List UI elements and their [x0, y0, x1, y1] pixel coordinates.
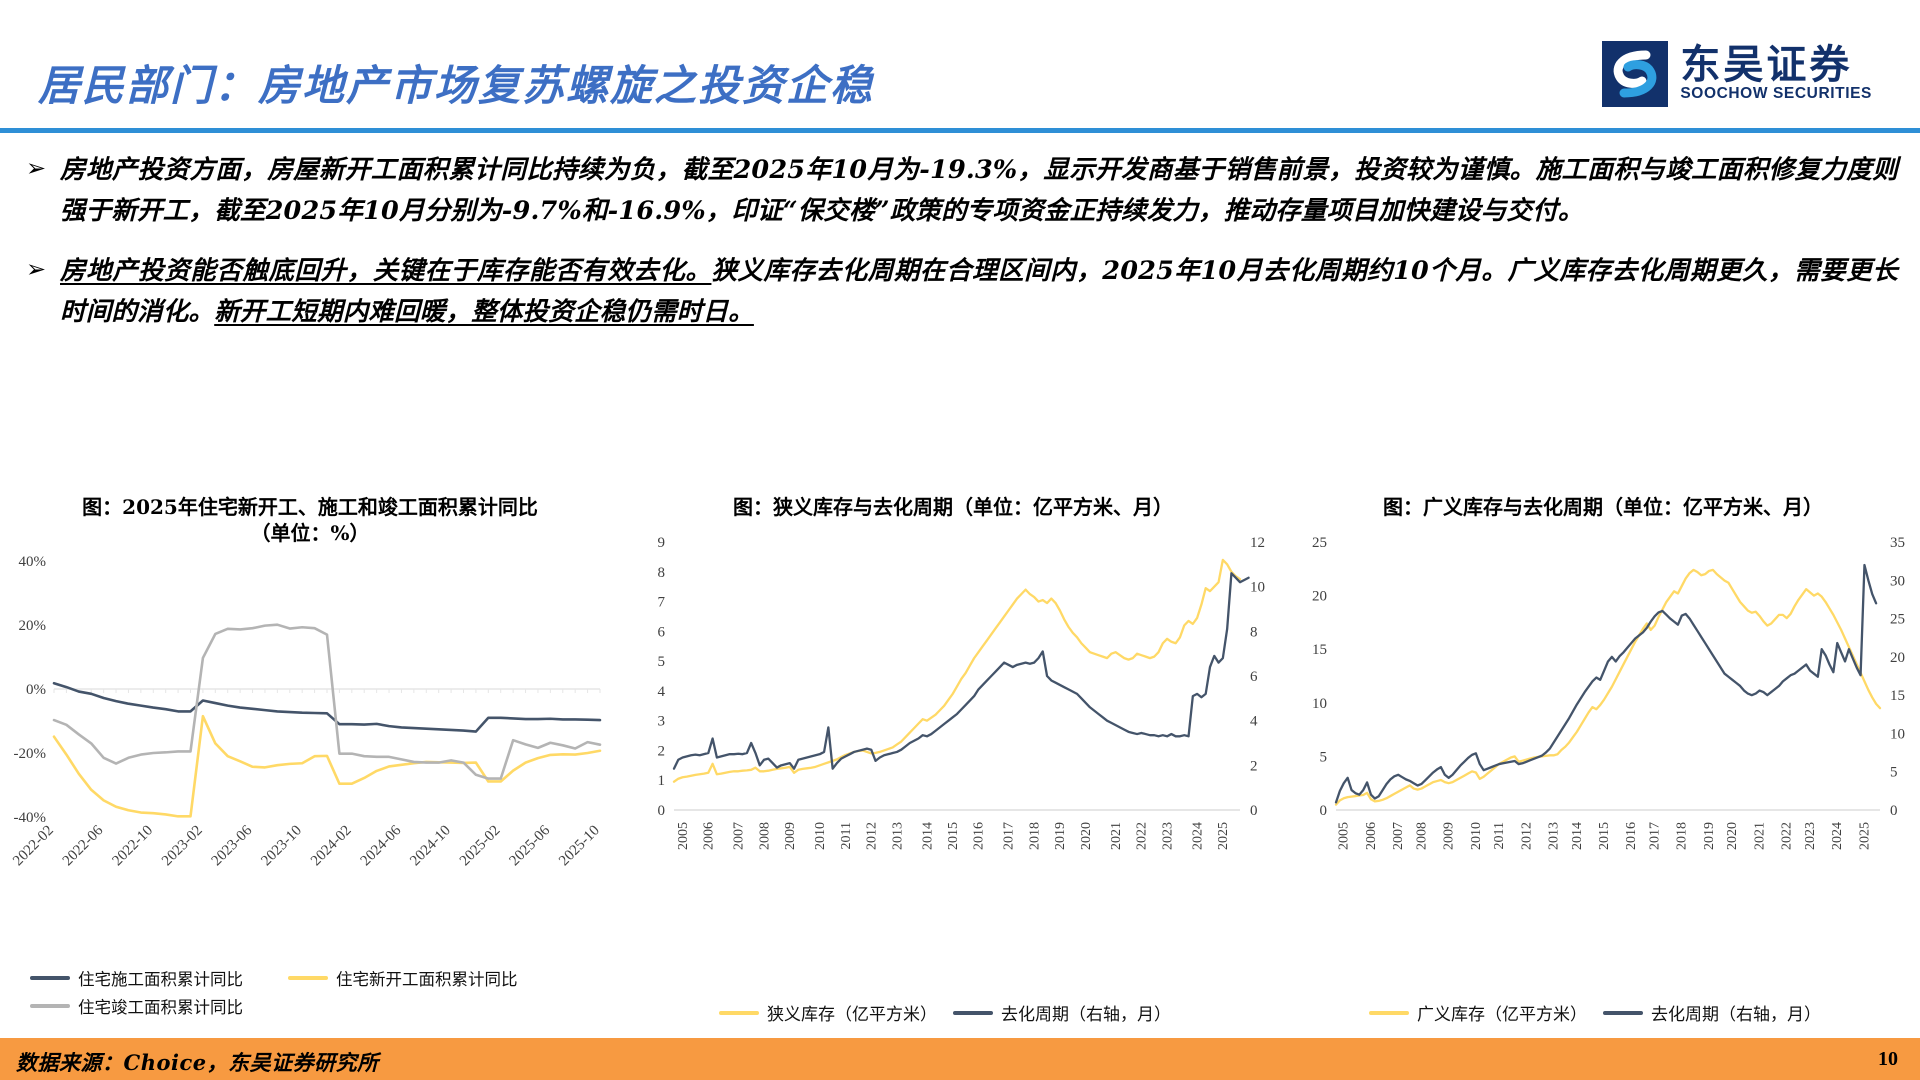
- x-axis-tick-label: 2022: [1135, 822, 1150, 850]
- x-axis-tick-label: 2007: [732, 822, 747, 850]
- y-axis-right-tick-label: 25: [1890, 612, 1905, 628]
- x-axis-tick-label: 2020: [1079, 822, 1094, 850]
- x-axis-tick-label: 2009: [1442, 822, 1457, 850]
- page-number: 10: [1878, 1048, 1898, 1071]
- y-axis-right-tick-label: 30: [1890, 574, 1905, 590]
- x-axis-tick-label: 2024-02: [308, 822, 355, 869]
- x-axis-tick-label: 2017: [1002, 822, 1017, 850]
- x-axis-tick-label: 2007: [1391, 822, 1406, 850]
- y-axis-right-tick-label: 8: [1250, 625, 1258, 641]
- legend-swatch-icon: [1603, 1011, 1643, 1015]
- soochow-securities-logo: 东吴证券 SOOCHOW SECURITIES: [1602, 36, 1872, 112]
- y-axis-right-tick-label: 35: [1890, 535, 1905, 551]
- legend-swatch-icon: [30, 1004, 70, 1008]
- legend-item[interactable]: 广义库存（亿平方米）: [1369, 1000, 1587, 1025]
- legend-swatch-icon: [30, 976, 70, 980]
- x-axis-tick-label: 2016: [972, 822, 987, 850]
- x-axis-tick-label: 2018: [1028, 822, 1043, 850]
- y-axis-left-tick-label: 15: [1312, 643, 1327, 659]
- legend-swatch-icon: [288, 976, 328, 980]
- y-axis-left-tick-label: 0: [1320, 803, 1328, 819]
- y-axis-right-tick-label: 20: [1890, 650, 1905, 666]
- y-axis-tick-label: 20%: [19, 618, 47, 634]
- y-axis-tick-label: 40%: [19, 554, 47, 570]
- x-axis-tick-label: 2024-06: [358, 822, 405, 869]
- legend-swatch-icon: [953, 1011, 993, 1015]
- y-axis-tick-label: -20%: [14, 746, 47, 762]
- chart-broad-inventory: 图：广义库存与去化周期（单位：亿平方米、月） 05101520250510152…: [1288, 488, 1918, 1048]
- x-axis-tick-label: 2022-10: [109, 822, 156, 869]
- logo-name-cn: 东吴证券: [1680, 44, 1872, 85]
- slide-header: 居民部门：房地产市场复苏螺旋之投资企稳 东吴证券 SOOCHOW SECURIT…: [0, 0, 1920, 150]
- logo-name-en: SOOCHOW SECURITIES: [1680, 85, 1872, 104]
- chart-narrow-inventory: 图：狭义库存与去化周期（单位：亿平方米、月） 01234567890246810…: [628, 488, 1278, 1048]
- legend-label: 去化周期（右轴，月）: [1651, 1000, 1821, 1025]
- y-axis-right-tick-label: 6: [1250, 669, 1258, 685]
- bullet-segment-underlined: 房地产投资能否触底回升，关键在于库存能否有效去化。: [60, 256, 711, 286]
- chart-legend: 广义库存（亿平方米）去化周期（右轴，月）: [1288, 1000, 1918, 1029]
- y-axis-left-tick-label: 9: [658, 535, 666, 551]
- y-axis-left-tick-label: 8: [658, 565, 666, 581]
- chart-title-line1: 图：2025年住宅新开工、施工和竣工面积累计同比: [75, 494, 545, 520]
- y-axis-right-tick-label: 5: [1890, 765, 1898, 781]
- series-line-1: [54, 716, 600, 816]
- x-axis-tick-label: 2006: [702, 822, 717, 850]
- bullet-item: ➢ 房地产投资能否触底回升，关键在于库存能否有效去化。狭义库存去化周期在合理区间…: [22, 251, 1898, 334]
- x-axis-tick-label: 2014: [920, 822, 935, 850]
- y-axis-left-tick-label: 6: [658, 625, 666, 641]
- x-axis-tick-label: 2024: [1830, 822, 1845, 850]
- y-axis-right-tick-label: 0: [1890, 803, 1898, 819]
- legend-label: 去化周期（右轴，月）: [1001, 1000, 1171, 1025]
- legend-swatch-icon: [719, 1011, 759, 1015]
- legend-label: 住宅新开工面积累计同比: [336, 966, 518, 990]
- legend-item[interactable]: 狭义库存（亿平方米）: [719, 1000, 937, 1025]
- legend-item[interactable]: 去化周期（右轴，月）: [1603, 1000, 1821, 1025]
- x-axis-tick-label: 2020: [1725, 822, 1740, 850]
- chart-plot-area: -40%-20%0%20%40%2022-022022-062022-10202…: [0, 547, 620, 947]
- legend-item[interactable]: 住宅施工面积累计同比: [30, 966, 282, 990]
- series-line-1: [674, 574, 1249, 769]
- legend-label: 住宅竣工面积累计同比: [78, 994, 243, 1018]
- chart-title: 图：狭义库存与去化周期（单位：亿平方米、月）: [628, 488, 1278, 520]
- bullet-segment: 房地产投资方面，房屋新开工面积累计同比持续为负，截至2025年10月为-19.3…: [60, 155, 1898, 226]
- x-axis-tick-label: 2023: [1803, 822, 1818, 850]
- data-source-label: 数据来源：Choice，东吴证券研究所: [16, 1047, 379, 1077]
- chart-svg: -40%-20%0%20%40%2022-022022-062022-10202…: [0, 547, 620, 947]
- x-axis-tick-label: 2009: [783, 822, 798, 850]
- y-axis-left-tick-label: 4: [658, 684, 666, 700]
- chart-svg: 0510152025051015202530352005200620072008…: [1288, 520, 1918, 960]
- x-axis-tick-label: 2022-06: [60, 822, 107, 869]
- bullet-item: ➢ 房地产投资方面，房屋新开工面积累计同比持续为负，截至2025年10月为-19…: [22, 150, 1898, 233]
- x-axis-tick-label: 2025-06: [507, 822, 554, 869]
- y-axis-tick-label: -40%: [14, 810, 47, 826]
- legend-item[interactable]: 住宅竣工面积累计同比: [30, 994, 282, 1018]
- legend-item[interactable]: 住宅新开工面积累计同比: [288, 966, 540, 990]
- x-axis-tick-label: 2021: [1752, 822, 1767, 850]
- x-axis-tick-label: 2024: [1190, 822, 1205, 850]
- y-axis-left-tick-label: 0: [658, 803, 666, 819]
- x-axis-tick-label: 2016: [1624, 822, 1639, 850]
- x-axis-tick-label: 2014: [1570, 822, 1585, 850]
- x-axis-tick-label: 2023-06: [209, 822, 256, 869]
- x-axis-tick-label: 2025: [1216, 822, 1231, 850]
- x-axis-tick-label: 2008: [757, 822, 772, 850]
- legend-label: 广义库存（亿平方米）: [1417, 1000, 1587, 1025]
- chart-plot-area: 0510152025051015202530352005200620072008…: [1288, 520, 1918, 960]
- chart-legend: 狭义库存（亿平方米）去化周期（右轴，月）: [628, 1000, 1278, 1029]
- x-axis-tick-label: 2010: [1469, 822, 1484, 850]
- x-axis-tick-label: 2019: [1053, 822, 1068, 850]
- x-axis-tick-label: 2008: [1414, 822, 1429, 850]
- y-axis-right-tick-label: 0: [1250, 803, 1258, 819]
- bullet-arrow-icon: ➢: [22, 251, 60, 290]
- slide: 居民部门：房地产市场复苏螺旋之投资企稳 东吴证券 SOOCHOW SECURIT…: [0, 0, 1920, 1080]
- x-axis-tick-label: 2025: [1857, 822, 1872, 850]
- bullet-arrow-icon: ➢: [22, 150, 60, 189]
- x-axis-tick-label: 2013: [890, 822, 905, 850]
- x-axis-tick-label: 2025-10: [556, 822, 603, 869]
- chart-legend: 住宅施工面积累计同比住宅新开工面积累计同比住宅竣工面积累计同比: [30, 966, 590, 1022]
- y-axis-left-tick-label: 5: [1320, 750, 1328, 766]
- header-divider: [0, 128, 1920, 133]
- y-axis-tick-label: 0%: [26, 682, 46, 698]
- y-axis-right-tick-label: 10: [1890, 727, 1905, 743]
- chart-title: 图：2025年住宅新开工、施工和竣工面积累计同比 （单位：%）: [75, 488, 545, 547]
- series-line-0: [674, 560, 1240, 782]
- x-axis-tick-label: 2022: [1780, 822, 1795, 850]
- x-axis-tick-label: 2022-02: [10, 822, 57, 869]
- x-axis-tick-label: 2018: [1675, 822, 1690, 850]
- bullet-text: 房地产投资能否触底回升，关键在于库存能否有效去化。狭义库存去化周期在合理区间内，…: [60, 251, 1898, 334]
- x-axis-tick-label: 2011: [839, 822, 854, 849]
- x-axis-tick-label: 2005: [676, 822, 691, 850]
- x-axis-tick-label: 2023-10: [258, 822, 305, 869]
- y-axis-left-tick-label: 7: [658, 595, 666, 611]
- bullet-text: 房地产投资方面，房屋新开工面积累计同比持续为负，截至2025年10月为-19.3…: [60, 150, 1898, 233]
- x-axis-tick-label: 2012: [1519, 822, 1534, 850]
- chart-construction-yoy: 图：2025年住宅新开工、施工和竣工面积累计同比 （单位：%） -40%-20%…: [0, 488, 620, 1048]
- body-bullets: ➢ 房地产投资方面，房屋新开工面积累计同比持续为负，截至2025年10月为-19…: [22, 150, 1898, 351]
- y-axis-right-tick-label: 12: [1250, 535, 1265, 551]
- chart-title-line2: （单位：%）: [75, 520, 545, 546]
- series-line-1: [1336, 565, 1876, 802]
- charts-row: 图：2025年住宅新开工、施工和竣工面积累计同比 （单位：%） -40%-20%…: [0, 488, 1920, 1048]
- x-axis-tick-label: 2024-10: [407, 822, 454, 869]
- x-axis-tick-label: 2006: [1364, 822, 1379, 850]
- x-axis-tick-label: 2012: [865, 822, 880, 850]
- legend-label: 住宅施工面积累计同比: [78, 966, 243, 990]
- x-axis-tick-label: 2010: [813, 822, 828, 850]
- y-axis-left-tick-label: 3: [658, 714, 666, 730]
- y-axis-left-tick-label: 2: [658, 744, 666, 760]
- legend-item[interactable]: 去化周期（右轴，月）: [953, 1000, 1171, 1025]
- y-axis-left-tick-label: 5: [658, 655, 666, 671]
- y-axis-right-tick-label: 2: [1250, 759, 1258, 775]
- legend-label: 狭义库存（亿平方米）: [767, 1000, 937, 1025]
- x-axis-tick-label: 2021: [1109, 822, 1124, 850]
- slide-footer: 数据来源：Choice，东吴证券研究所 10: [0, 1038, 1920, 1080]
- x-axis-tick-label: 2015: [1597, 822, 1612, 850]
- x-axis-tick-label: 2011: [1492, 822, 1507, 849]
- y-axis-right-tick-label: 15: [1890, 689, 1905, 705]
- chart-title: 图：广义库存与去化周期（单位：亿平方米、月）: [1288, 488, 1918, 520]
- logo-swirl-icon: [1602, 41, 1668, 107]
- y-axis-left-tick-label: 20: [1312, 589, 1327, 605]
- chart-plot-area: 0123456789024681012200520062007200820092…: [628, 520, 1278, 960]
- chart-svg: 0123456789024681012200520062007200820092…: [628, 520, 1278, 960]
- bullet-segment-underlined: 新开工短期内难回暖，整体投资企稳仍需时日。: [214, 297, 754, 327]
- x-axis-tick-label: 2013: [1547, 822, 1562, 850]
- logo-text: 东吴证券 SOOCHOW SECURITIES: [1680, 44, 1872, 104]
- x-axis-tick-label: 2019: [1702, 822, 1717, 850]
- x-axis-tick-label: 2017: [1648, 822, 1663, 850]
- x-axis-tick-label: 2023: [1160, 822, 1175, 850]
- legend-swatch-icon: [1369, 1011, 1409, 1015]
- series-line-0: [1336, 570, 1880, 805]
- x-axis-tick-label: 2023-02: [159, 822, 206, 869]
- y-axis-right-tick-label: 10: [1250, 580, 1265, 596]
- x-axis-tick-label: 2025-02: [457, 822, 504, 869]
- y-axis-left-tick-label: 1: [658, 774, 666, 790]
- x-axis-tick-label: 2005: [1337, 822, 1352, 850]
- y-axis-left-tick-label: 10: [1312, 696, 1327, 712]
- page-title: 居民部门：房地产市场复苏螺旋之投资企稳: [38, 52, 874, 113]
- x-axis-tick-label: 2015: [946, 822, 961, 850]
- y-axis-right-tick-label: 4: [1250, 714, 1258, 730]
- y-axis-left-tick-label: 25: [1312, 535, 1327, 551]
